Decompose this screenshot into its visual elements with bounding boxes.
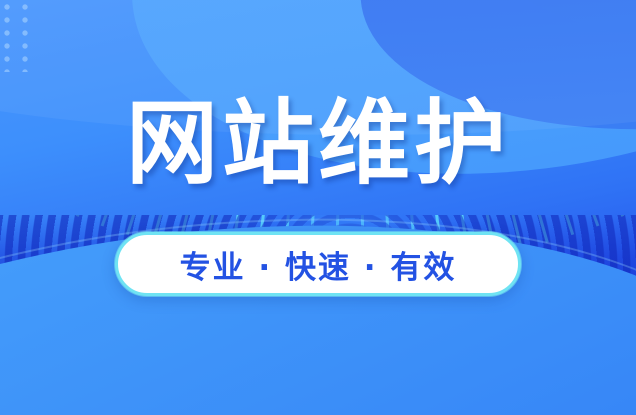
promo-banner: 网站维护 专业 · 快速 · 有效: [0, 0, 636, 415]
subtitle-pill: 专业 · 快速 · 有效: [115, 232, 521, 296]
banner-title: 网站维护: [126, 98, 510, 190]
subtitle-text: 专业 · 快速 · 有效: [180, 242, 457, 287]
banner-content: 网站维护 专业 · 快速 · 有效: [0, 0, 636, 415]
